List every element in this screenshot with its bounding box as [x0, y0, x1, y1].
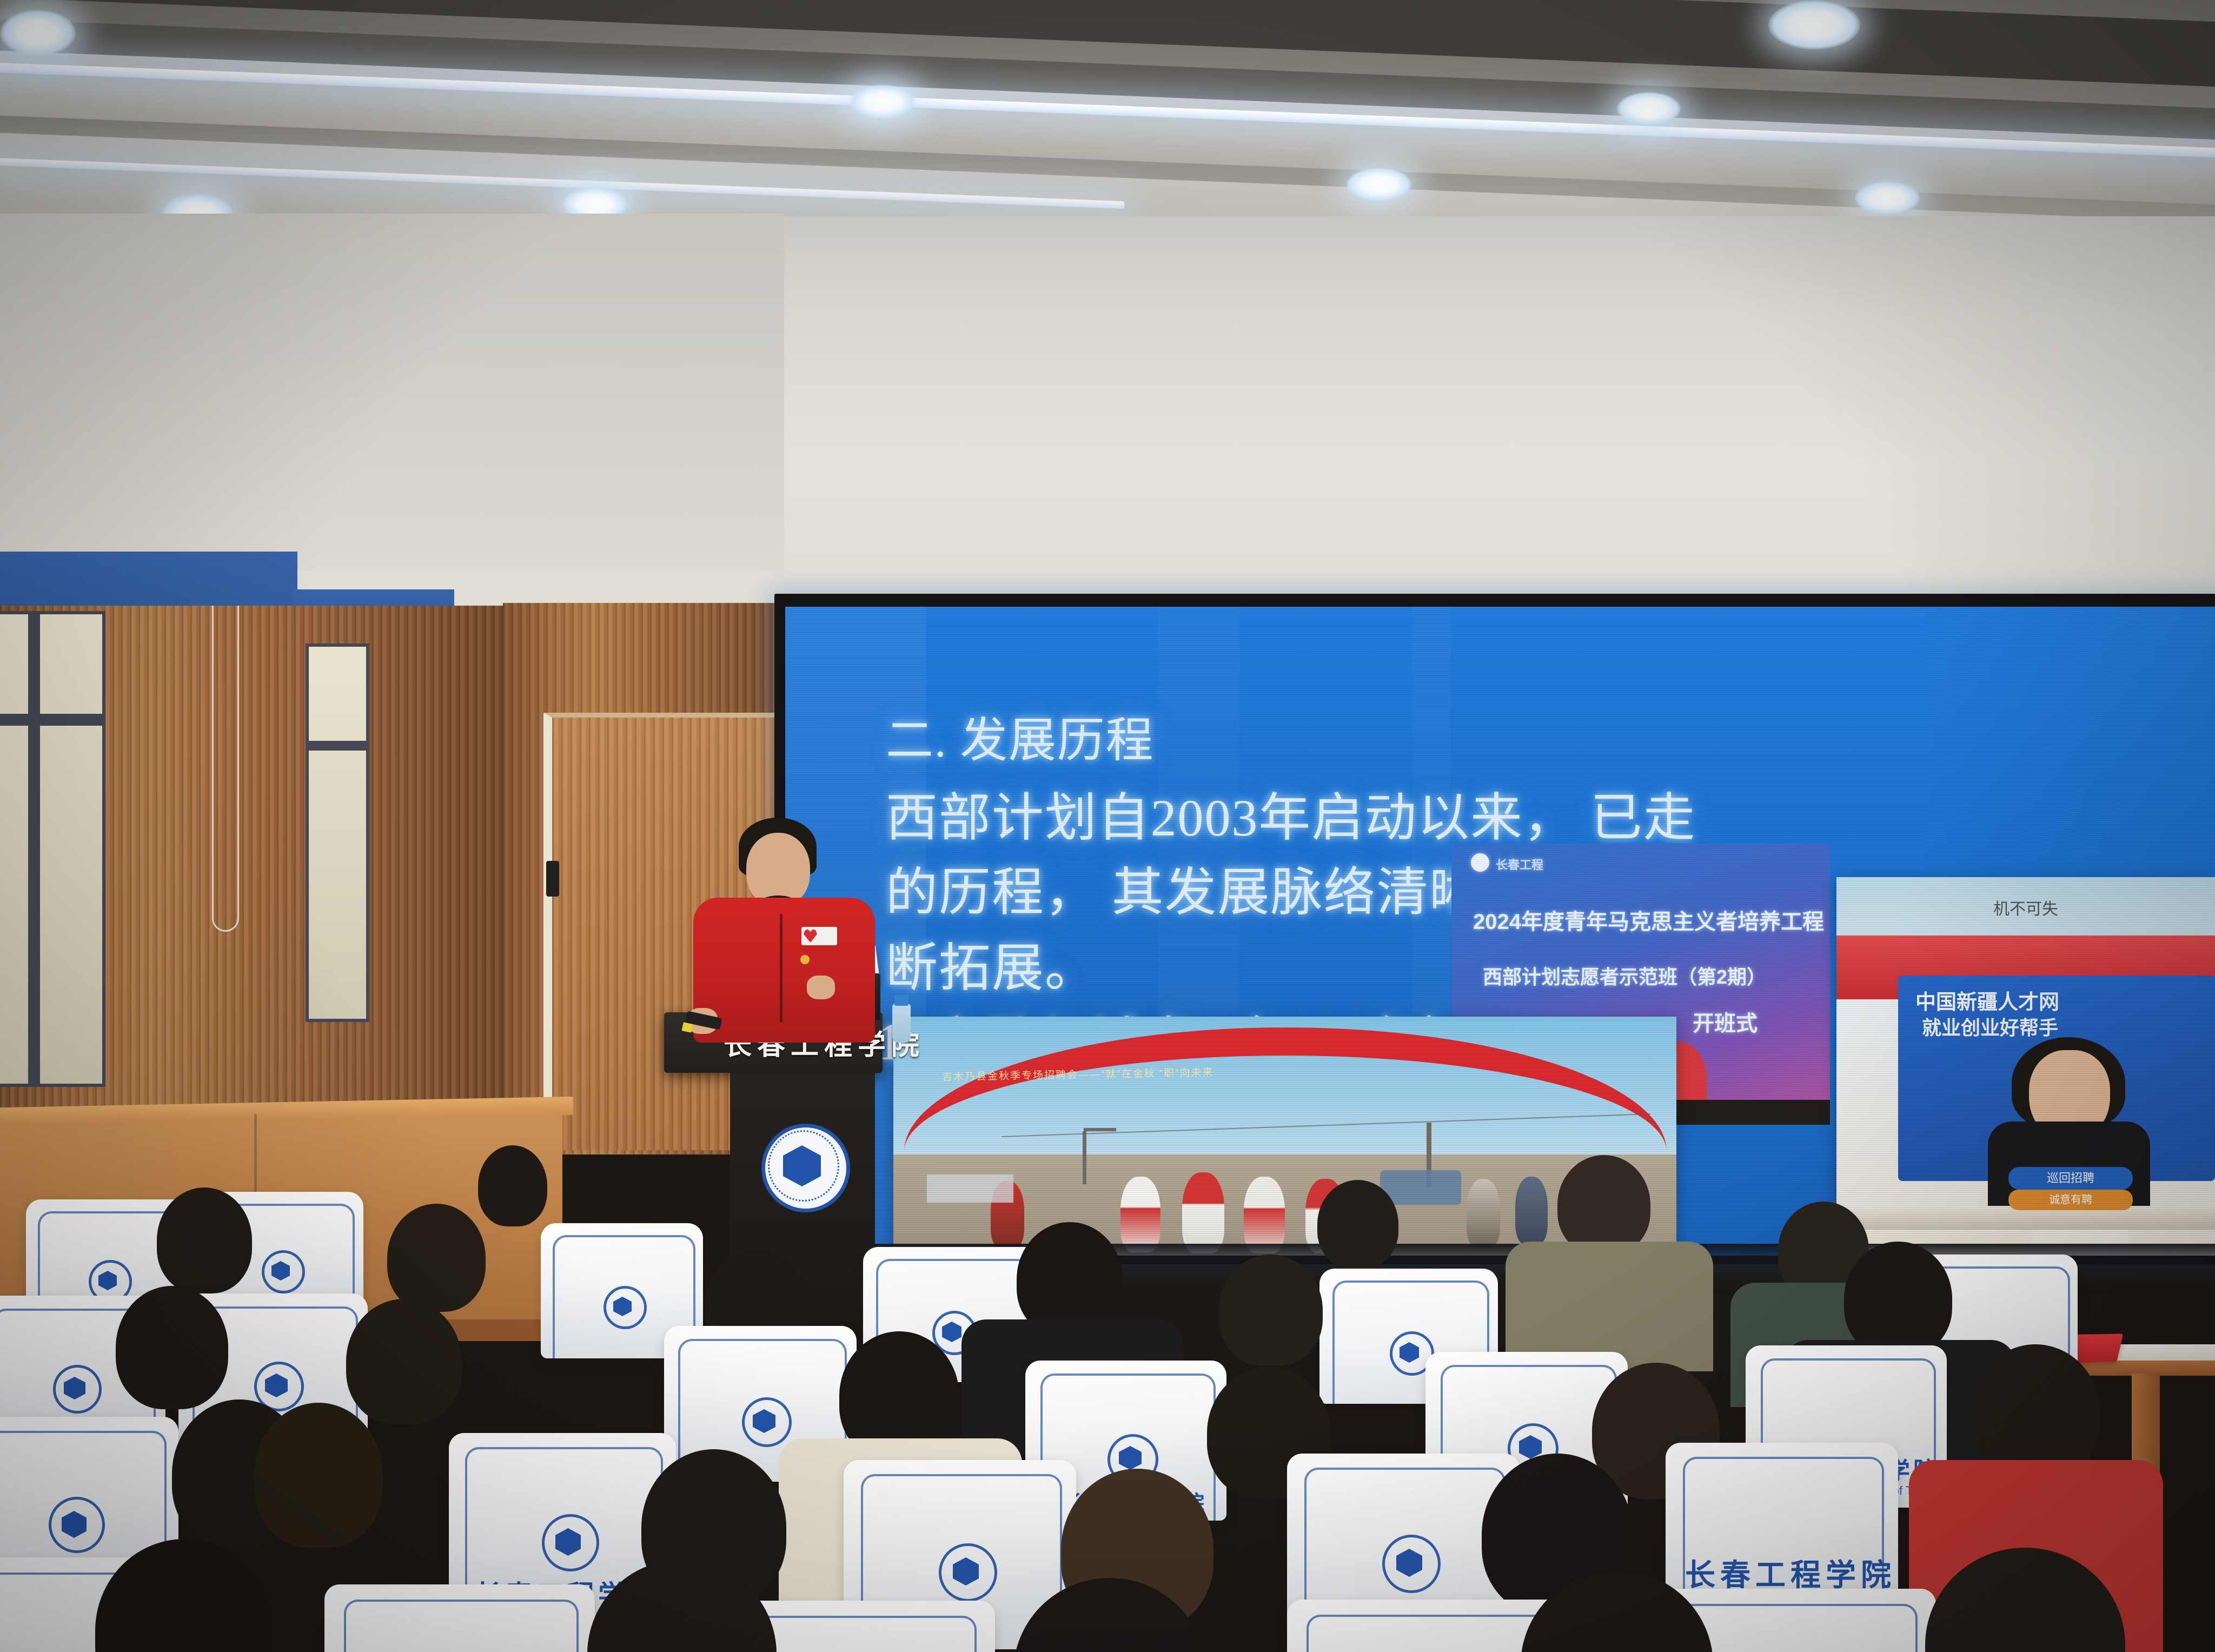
downlight-2	[1768, 0, 1860, 50]
audience-head-r3-2	[346, 1299, 462, 1424]
downlight-8	[1347, 168, 1411, 201]
downlight-5	[850, 84, 915, 119]
chair-r1-2[interactable]	[324, 1584, 595, 1652]
audience-head-r5-3	[1557, 1155, 1650, 1255]
upper-wall-left	[0, 214, 784, 570]
screen-scanlines	[785, 607, 2215, 1256]
downlight-9	[1855, 181, 1920, 215]
audience-head-r5-2	[1317, 1180, 1398, 1269]
audience-head-r4-5	[1219, 1255, 1323, 1366]
chair-pipe-r1-2	[344, 1600, 579, 1652]
audience-head-r2-2	[254, 1403, 383, 1548]
window-mullion-v	[28, 611, 40, 1087]
laser-pointer-tip	[682, 1022, 693, 1032]
audience-head-r4-1	[157, 1187, 252, 1293]
water-bottle[interactable]	[892, 1004, 911, 1043]
downlight-1	[0, 10, 76, 56]
water-bottle-cap	[894, 995, 908, 1006]
speaker-jacket-zipper	[780, 914, 782, 1022]
audience-head-r4-6	[1844, 1242, 1952, 1356]
audience-head-r5-1	[478, 1145, 547, 1226]
window-mullion-h	[0, 714, 105, 726]
door-handle-icon[interactable]	[546, 861, 559, 897]
window-left	[0, 611, 105, 1087]
audience-head-r4-2	[387, 1204, 486, 1312]
window-right-mullion	[306, 741, 369, 751]
blind-pull-cord[interactable]	[212, 606, 239, 932]
speaker-right-hand	[807, 976, 835, 999]
lecture-hall-photo: 二. 发展历程 西部计划自2003年启动以来， 已走 的历程， 其发展脉络清晰，…	[0, 0, 2215, 1652]
led-screen: 二. 发展历程 西部计划自2003年启动以来， 已走 的历程， 其发展脉络清晰，…	[785, 607, 2215, 1256]
audience-head-r3-1	[116, 1286, 228, 1409]
downlight-6	[1617, 92, 1681, 125]
chair-pipe-r1-4	[1307, 1615, 1550, 1652]
chair-label-cn-r2-5: 长春工程学院	[1685, 1551, 1896, 1595]
speaker-party-pin-icon	[800, 955, 810, 964]
window-right-strip	[306, 643, 369, 1022]
